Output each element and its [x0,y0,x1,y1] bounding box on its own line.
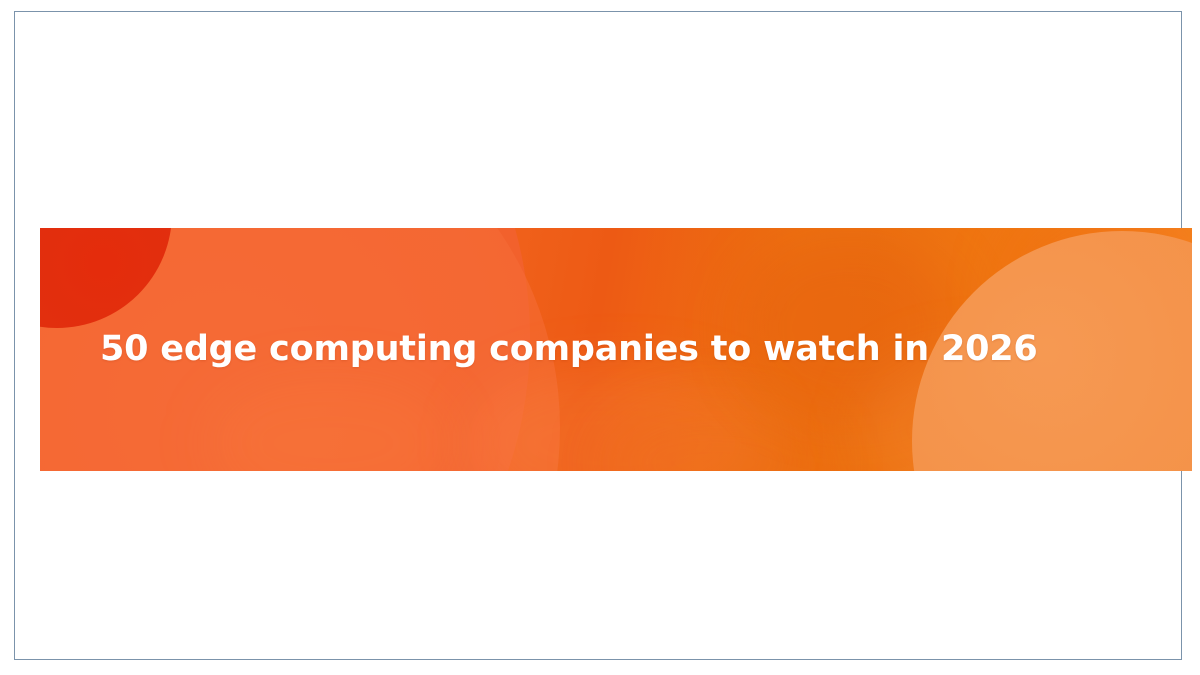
hero-banner: 50 edge computing companies to watch in … [40,228,1192,471]
slide-frame: 50 edge computing companies to watch in … [14,11,1182,660]
slide-canvas: 50 edge computing companies to watch in … [0,0,1200,675]
banner-title: 50 edge computing companies to watch in … [100,228,1038,471]
